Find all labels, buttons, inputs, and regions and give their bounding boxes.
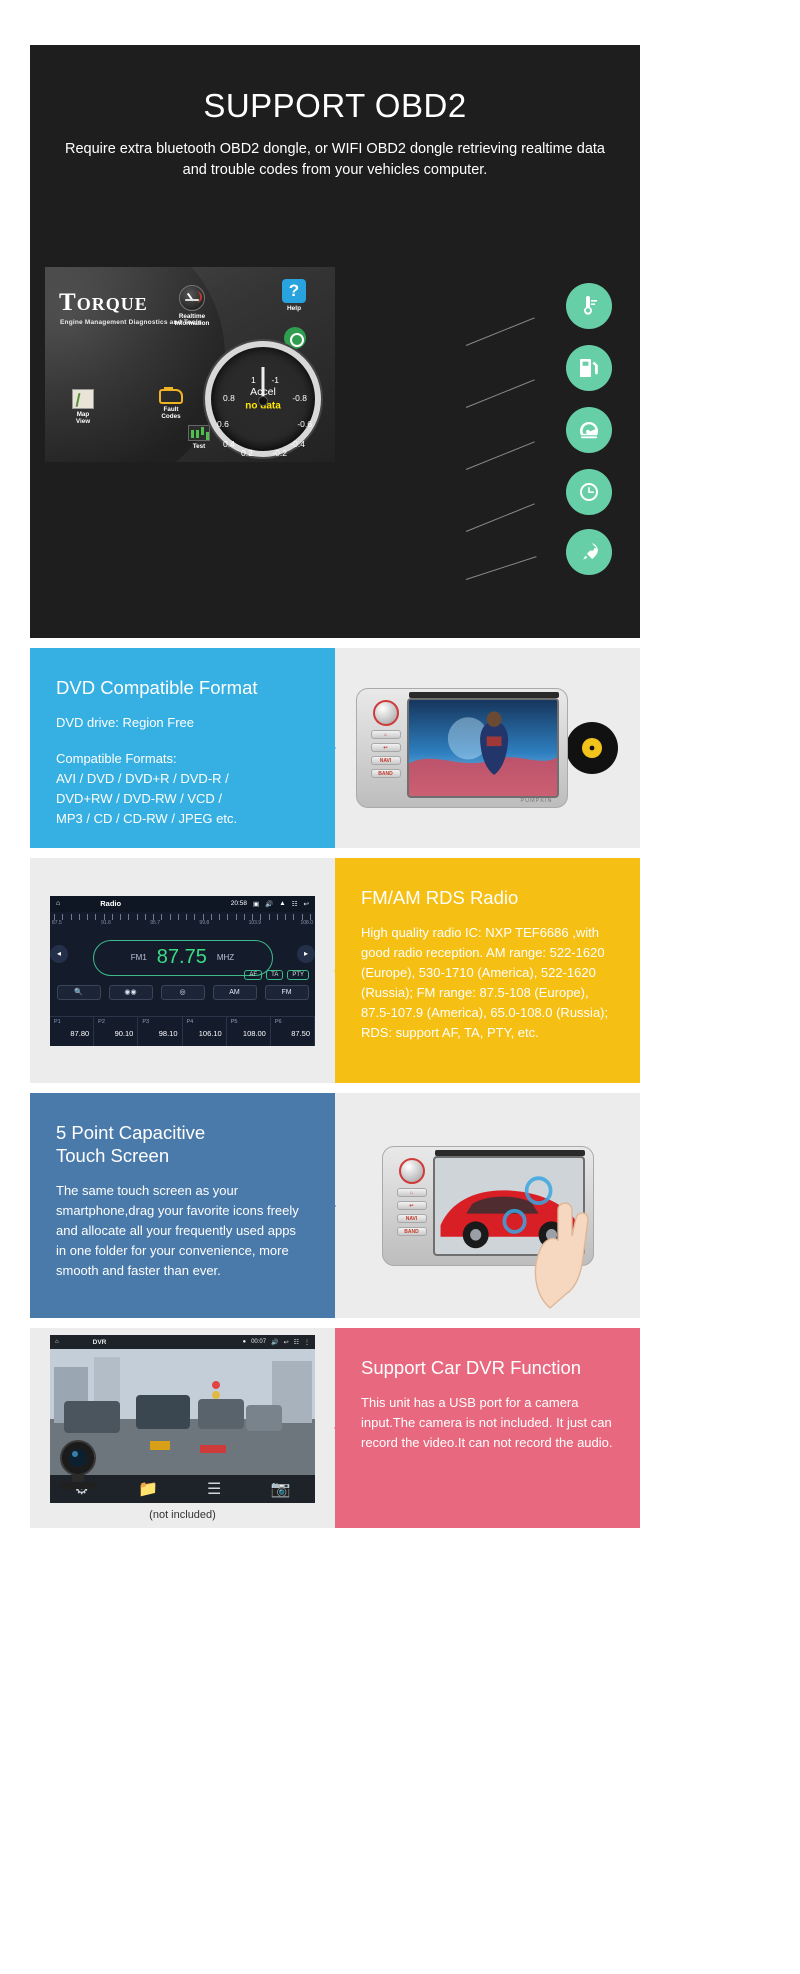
touch-heading: 5 Point Capacitive Touch Screen: [56, 1121, 309, 1167]
navi-button-touch[interactable]: NAVI: [397, 1214, 427, 1223]
torque-help-button[interactable]: ? Help: [265, 279, 323, 312]
home-button[interactable]: ⌂: [371, 730, 401, 739]
preset-1-slot: P1: [54, 1019, 89, 1025]
bubble-connector-1: [466, 317, 535, 346]
dvr-image-pane: ⌂ DVR ● 00:07 🔊 ↩ ☷ ⋮: [30, 1328, 335, 1528]
apps-icon[interactable]: ☷: [292, 900, 298, 908]
torque-fault-codes-button[interactable]: Fault Codes: [145, 389, 197, 420]
hand-illustration: [524, 1190, 594, 1310]
preset-1-freq: 87.80: [54, 1029, 89, 1038]
temperature-bubble: [566, 283, 612, 329]
prev-icon[interactable]: ◂: [50, 945, 68, 963]
radio-button-row: 🔍 ◉◉ ◎ AM FM: [50, 985, 315, 1000]
preset-5[interactable]: P5108.00: [227, 1016, 271, 1046]
speedometer-icon: [179, 285, 205, 311]
screenshot-icon[interactable]: ▣: [253, 900, 259, 908]
fuel-pump-icon: [577, 356, 601, 380]
obd2-hero-section: SUPPORT OBD2 Require extra bluetooth OBD…: [30, 45, 640, 638]
scale-label-5: 108.0: [300, 920, 313, 926]
bubble-connector-2: [466, 379, 535, 408]
scale-label-1: 91.6: [101, 920, 111, 926]
volume-icon-dvr[interactable]: 🔊: [271, 1339, 278, 1346]
scale-ticks: [50, 912, 315, 920]
gauge-tick-6: 0.4: [223, 439, 235, 449]
torque-realtime-info-button[interactable]: Realtime Information: [163, 285, 221, 327]
section-separator-3: [30, 1083, 640, 1093]
gauge-dial-icon: [577, 480, 601, 504]
band-label: FM1: [131, 953, 147, 962]
torque-fault-label: Fault Codes: [145, 406, 197, 420]
rocket-icon: [577, 540, 601, 564]
preset-2-freq: 90.10: [98, 1029, 133, 1038]
scan-icon[interactable]: ◎: [161, 985, 205, 1000]
chip-ta[interactable]: TA: [266, 970, 283, 980]
gauge-hub-icon: [258, 396, 268, 406]
dvr-arrow-icon: [334, 1411, 350, 1445]
torque-help-label: Help: [265, 305, 323, 312]
record-icon[interactable]: ●: [242, 1339, 246, 1345]
torque-map-label: Map View: [57, 411, 109, 425]
back-icon[interactable]: ↩: [304, 900, 309, 908]
touch-text-pane: 5 Point Capacitive Touch Screen The same…: [30, 1093, 335, 1318]
dvr-screen-title: DVR: [93, 1339, 107, 1346]
section-separator-1: [30, 638, 640, 648]
map-icon: [72, 389, 94, 409]
stereo-icon[interactable]: ◉◉: [109, 985, 153, 1000]
volume-icon[interactable]: 🔊: [265, 900, 273, 908]
menu-icon-dvr[interactable]: ⋮: [304, 1339, 310, 1346]
dvr-status-right: ● 00:07 🔊 ↩ ☷ ⋮: [242, 1339, 310, 1346]
gauge-tick-0: 0.8: [223, 393, 235, 403]
clock-label: 20:58: [231, 900, 247, 907]
volume-knob[interactable]: [373, 700, 399, 726]
radio-status-right: 20:58 ▣ 🔊 ▲ ☷ ↩: [231, 900, 309, 908]
back-icon-dvr[interactable]: ↩: [284, 1339, 289, 1346]
preset-3-freq: 98.10: [142, 1029, 177, 1038]
touch-image-pane: ⌂ ↩ NAVI BAND PUMPKIN: [335, 1093, 640, 1318]
check-engine-icon: [159, 389, 183, 404]
scale-label-3: 99.8: [199, 920, 209, 926]
hero-illustration: TORQUE Engine Management Diagnostics and…: [30, 255, 640, 638]
hero-subtitle: Require extra bluetooth OBD2 dongle, or …: [52, 139, 618, 181]
dash-camera-illustration: [52, 1436, 112, 1494]
dvd-formats-label: Compatible Formats:: [56, 749, 309, 769]
home-icon-dvr[interactable]: ⌂: [55, 1339, 59, 1345]
bubble-connector-3: [466, 441, 535, 470]
scale-label-2: 95.7: [150, 920, 160, 926]
dvd-region-line: DVD drive: Region Free: [56, 713, 309, 733]
folder-icon[interactable]: 📁: [138, 1479, 158, 1499]
dvd-heading: DVD Compatible Format: [56, 676, 309, 699]
bar-graph-icon: [188, 425, 210, 441]
torque-map-view-button[interactable]: Map View: [57, 389, 109, 425]
torque-accel-gauge: 0.8 1 -1 -0.8 0.6 -0.6 0.4 -0.4 0.2 -0.2…: [205, 341, 321, 457]
radio-body: High quality radio IC: NXP TEF6686 ,with…: [361, 923, 614, 1043]
am-button[interactable]: AM: [213, 985, 257, 1000]
next-icon[interactable]: ▸: [297, 945, 315, 963]
preset-3-slot: P3: [142, 1019, 177, 1025]
touch-section: 5 Point Capacitive Touch Screen The same…: [30, 1093, 640, 1318]
preset-2[interactable]: P290.10: [94, 1016, 138, 1046]
head-unit-screen[interactable]: [407, 698, 559, 798]
dvd-formats-list: AVI / DVD / DVD+R / DVD-R / DVD+RW / DVD…: [56, 769, 309, 829]
preset-6-slot: P6: [275, 1019, 310, 1025]
back-button-touch[interactable]: ↩: [397, 1201, 427, 1210]
preset-2-slot: P2: [98, 1019, 133, 1025]
speed-bubble: [566, 407, 612, 453]
touch-arrow-icon: [320, 1189, 336, 1223]
dvd-image-pane: ⌂ ↩ NAVI BAND: [335, 648, 640, 848]
hero-title: SUPPORT OBD2: [30, 87, 640, 125]
dvr-section: ⌂ DVR ● 00:07 🔊 ↩ ☷ ⋮: [30, 1328, 640, 1528]
radio-tuning-scale[interactable]: 87.5 91.6 95.7 99.8 103.9 108.0: [50, 912, 315, 932]
radio-heading: FM/AM RDS Radio: [361, 886, 614, 909]
dvr-heading: Support Car DVR Function: [361, 1356, 614, 1379]
dvd-text-pane: DVD Compatible Format DVD drive: Region …: [30, 648, 335, 848]
chip-af[interactable]: AF: [244, 970, 262, 980]
radio-presets: P187.80 P290.10 P398.10 P4106.10 P5108.0…: [50, 1016, 315, 1046]
gauge-tick-1: 1: [251, 375, 256, 385]
frequency-value: 87.75: [157, 946, 207, 969]
radio-screen-title: Radio: [100, 899, 121, 908]
preset-4-freq: 106.10: [187, 1029, 222, 1038]
dvr-status-bar: ⌂ DVR ● 00:07 🔊 ↩ ☷ ⋮: [50, 1335, 315, 1349]
home-button-touch[interactable]: ⌂: [397, 1188, 427, 1197]
section-separator-4: [30, 1318, 640, 1328]
navi-button[interactable]: NAVI: [371, 756, 401, 765]
radio-image-pane: ⌂ Radio 20:58 ▣ 🔊 ▲ ☷ ↩: [30, 858, 335, 1083]
preset-3[interactable]: P398.10: [138, 1016, 182, 1046]
movie-still-image: [409, 700, 557, 796]
head-unit-dvd: ⌂ ↩ NAVI BAND: [356, 688, 568, 808]
gauge-tick-4: 0.6: [217, 419, 229, 429]
dvd-section: DVD Compatible Format DVD drive: Region …: [30, 648, 640, 848]
frequency-unit: MHZ: [217, 953, 234, 962]
unit-brand-label: PUMPKIN: [520, 798, 552, 804]
radio-app-screenshot: ⌂ Radio 20:58 ▣ 🔊 ▲ ☷ ↩: [50, 896, 315, 1046]
disc-slot-touch: [435, 1150, 585, 1156]
question-mark-icon: ?: [282, 279, 306, 303]
apps-icon-dvr[interactable]: ☷: [294, 1339, 299, 1346]
radio-text-pane: FM/AM RDS Radio High quality radio IC: N…: [335, 858, 640, 1083]
radio-status-bar: ⌂ Radio 20:58 ▣ 🔊 ▲ ☷ ↩: [50, 896, 315, 912]
search-icon[interactable]: 🔍: [57, 985, 101, 1000]
scale-label-0: 87.5: [52, 920, 62, 926]
radio-arrow-icon: [334, 954, 350, 988]
gauge-tick-9: -0.2: [272, 448, 287, 458]
content-sheet: SUPPORT OBD2 Require extra bluetooth OBD…: [30, 45, 640, 1528]
preset-6[interactable]: P687.50: [271, 1016, 315, 1046]
torque-logo: TORQUE: [59, 289, 148, 317]
preset-5-slot: P5: [231, 1019, 266, 1025]
dvr-caption: (not included): [149, 1509, 216, 1521]
gauge-tick-3: -0.8: [292, 393, 307, 403]
scale-labels: 87.5 91.6 95.7 99.8 103.9 108.0: [50, 920, 315, 926]
back-button[interactable]: ↩: [371, 743, 401, 752]
head-unit-controls: ⌂ ↩ NAVI BAND: [365, 698, 407, 798]
vinyl-disc-icon: [564, 720, 620, 776]
obd2-feature-bubbles: [460, 273, 630, 603]
dvr-body: This unit has a USB port for a camera in…: [361, 1393, 614, 1453]
head-unit-controls-touch: ⌂ ↩ NAVI BAND: [391, 1156, 433, 1256]
rds-chips: AF TA PTY: [244, 970, 309, 980]
temperature-icon: [577, 294, 601, 318]
fm-button[interactable]: FM: [265, 985, 309, 1000]
dial-bubble: [566, 469, 612, 515]
camera-icon[interactable]: 📷: [270, 1479, 290, 1499]
gauge-tick-8: 0.2: [241, 448, 253, 458]
eject-icon[interactable]: ▲: [279, 900, 285, 907]
dvd-arrow-icon: [320, 731, 336, 765]
band-button[interactable]: BAND: [371, 769, 401, 778]
home-icon[interactable]: ⌂: [56, 900, 60, 907]
bubble-connector-4: [466, 503, 535, 532]
torque-app-screenshot: TORQUE Engine Management Diagnostics and…: [45, 267, 335, 462]
dvr-clock-label: 00:07: [251, 1339, 266, 1345]
scale-label-4: 103.9: [249, 920, 262, 926]
gauge-tick-2: -1: [271, 375, 279, 385]
dvr-text-pane: Support Car DVR Function This unit has a…: [335, 1328, 640, 1528]
torque-realtime-label: Realtime Information: [163, 313, 221, 327]
preset-4-slot: P4: [187, 1019, 222, 1025]
speedometer-icon: [577, 418, 601, 442]
fuel-bubble: [566, 345, 612, 391]
preset-1[interactable]: P187.80: [50, 1016, 94, 1046]
touch-body: The same touch screen as your smartphone…: [56, 1181, 309, 1281]
preset-6-freq: 87.50: [275, 1029, 310, 1038]
gauge-tick-5: -0.6: [297, 419, 312, 429]
torque-test-label: Test: [173, 443, 225, 450]
rocket-bubble: [566, 529, 612, 575]
band-button-touch[interactable]: BAND: [397, 1227, 427, 1236]
preset-5-freq: 108.00: [231, 1029, 266, 1038]
gauge-tick-7: -0.4: [290, 439, 305, 449]
chip-pty[interactable]: PTY: [287, 970, 309, 980]
infographic-page: SUPPORT OBD2 Require extra bluetooth OBD…: [0, 0, 800, 1974]
bubble-connector-5: [466, 556, 537, 580]
list-icon[interactable]: ☰: [207, 1479, 221, 1499]
preset-4[interactable]: P4106.10: [183, 1016, 227, 1046]
radio-section: ⌂ Radio 20:58 ▣ 🔊 ▲ ☷ ↩: [30, 858, 640, 1083]
section-separator-2: [30, 848, 640, 858]
volume-knob-touch[interactable]: [399, 1158, 425, 1184]
